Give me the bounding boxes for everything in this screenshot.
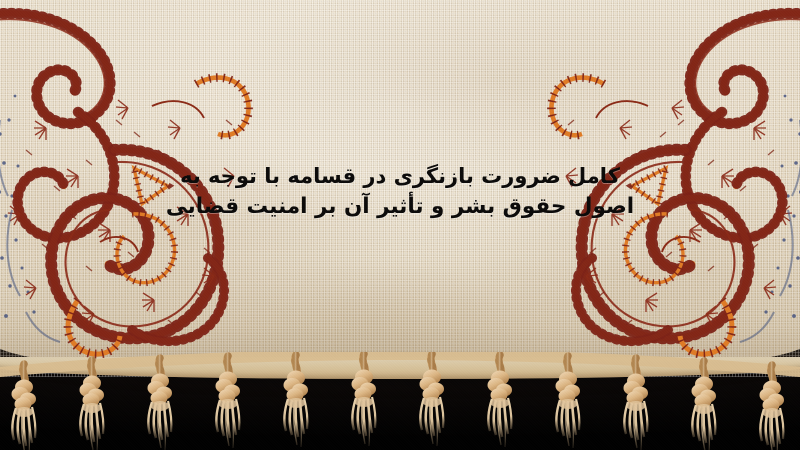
- tassel-row: [12, 354, 785, 450]
- caption-line-1: کامل ضرورت بازنگری در قسامه با توجه به: [0, 162, 800, 192]
- tassel: [488, 355, 513, 447]
- tassel: [148, 358, 173, 450]
- tassel: [284, 355, 309, 447]
- tassel: [216, 356, 241, 448]
- tassel: [692, 361, 717, 450]
- tassel: [760, 365, 785, 450]
- tassel: [80, 360, 105, 450]
- tassel-fringe: [0, 352, 800, 450]
- textile-banner-image: کامل ضرورت بازنگری در قسامه با توجه به ا…: [0, 0, 800, 450]
- caption-line-2: اصول حقوق بشر و تأثیر آن بر امنیت قضایی: [0, 192, 800, 223]
- tassel: [420, 354, 445, 446]
- caption-text-block: کامل ضرورت بازنگری در قسامه با توجه به ا…: [0, 162, 800, 222]
- tassel: [352, 354, 377, 446]
- tassel: [556, 356, 581, 448]
- tassel: [12, 364, 37, 450]
- tassel: [624, 358, 649, 450]
